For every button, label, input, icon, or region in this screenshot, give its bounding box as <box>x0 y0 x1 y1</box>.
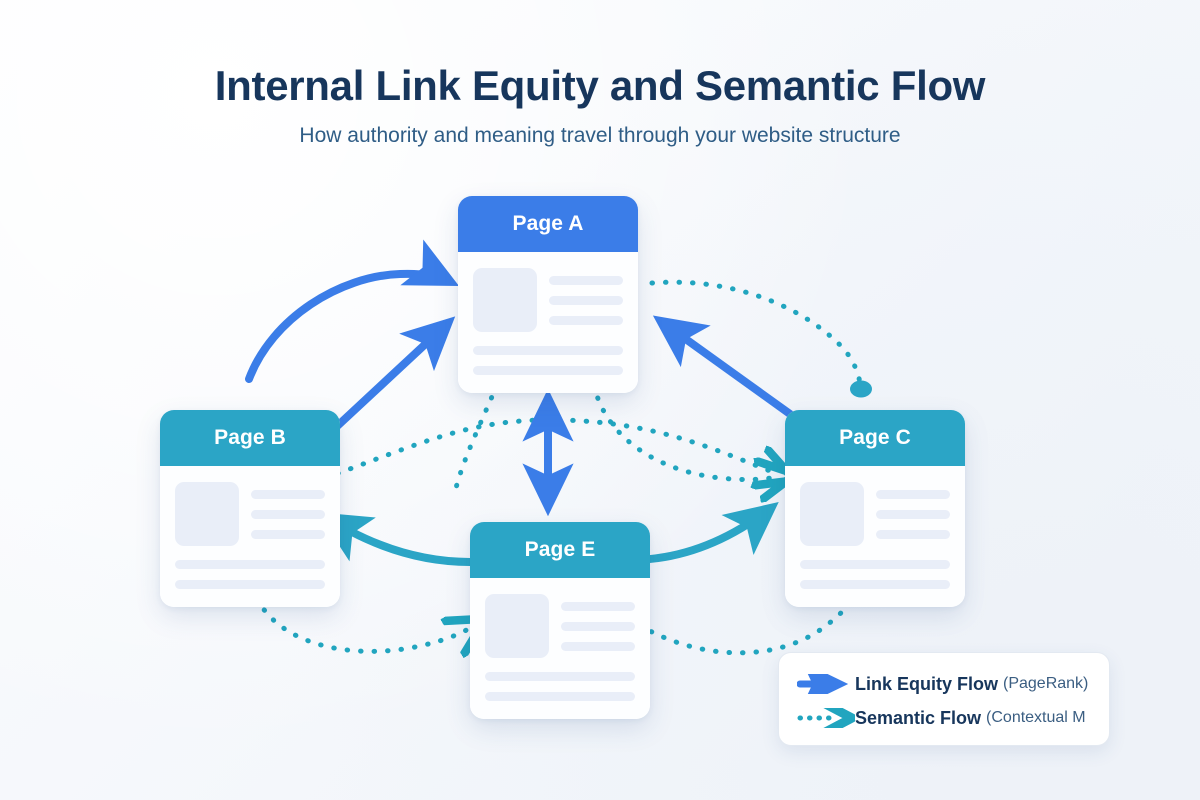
text-line-placeholder <box>251 530 325 539</box>
text-line-placeholder <box>175 560 325 569</box>
page-card-b-body <box>160 466 340 607</box>
text-line-placeholder <box>876 490 950 499</box>
edge-semantic-a-to-b <box>455 385 497 492</box>
page-card-e[interactable]: Page E <box>470 522 650 719</box>
thumbnail-placeholder <box>473 268 537 332</box>
page-card-a-header: Page A <box>458 196 638 252</box>
thumbnail-placeholder <box>175 482 239 546</box>
edge-equity-e-to-b <box>327 518 470 562</box>
page-card-e-body <box>470 578 650 719</box>
text-line-placeholder <box>800 560 950 569</box>
text-line-placeholder <box>549 276 623 285</box>
text-line-placeholder <box>251 490 325 499</box>
legend-item-semantic: Semantic Flow (Contextual M <box>797 701 1109 735</box>
page-card-a[interactable]: Page A <box>458 196 638 393</box>
text-line-placeholder <box>561 602 635 611</box>
text-line-placeholder <box>800 580 950 589</box>
text-line-placeholder <box>473 346 623 355</box>
page-card-c-header: Page C <box>785 410 965 466</box>
edge-endpoint-cap <box>850 381 872 398</box>
legend-note-link-equity: (PageRank) <box>1003 675 1088 693</box>
page-card-c-body <box>785 466 965 607</box>
diagram-canvas: Internal Link Equity and Semantic Flow H… <box>0 0 1200 800</box>
text-line-placeholder <box>876 510 950 519</box>
edge-equity-b-to-a-arc <box>249 274 449 379</box>
text-line-placeholder <box>561 622 635 631</box>
legend-item-link-equity: Link Equity Flow (PageRank) <box>797 667 1109 701</box>
text-line-placeholder <box>485 692 635 701</box>
legend-label-link-equity: Link Equity Flow <box>855 674 998 695</box>
legend-label-semantic: Semantic Flow <box>855 708 981 729</box>
edge-equity-b-to-a-straight <box>333 324 447 430</box>
solid-arrow-icon <box>797 674 855 694</box>
edge-equity-e-to-c <box>630 509 770 560</box>
page-card-c[interactable]: Page C <box>785 410 965 607</box>
page-card-b-header: Page B <box>160 410 340 466</box>
legend-note-semantic: (Contextual M <box>986 709 1086 727</box>
text-line-placeholder <box>549 296 623 305</box>
page-card-b-label: Page B <box>214 426 286 450</box>
edge-equity-c-to-a <box>662 322 790 414</box>
edge-semantic-a-to-c <box>594 385 778 480</box>
text-line-placeholder <box>876 530 950 539</box>
page-card-b[interactable]: Page B <box>160 410 340 607</box>
page-card-e-label: Page E <box>525 538 596 562</box>
legend-panel: Link Equity Flow (PageRank) Semantic Flo… <box>778 652 1110 746</box>
page-card-a-body <box>458 252 638 393</box>
thumbnail-placeholder <box>485 594 549 658</box>
text-line-placeholder <box>561 642 635 651</box>
page-card-c-label: Page C <box>839 426 911 450</box>
page-card-a-label: Page A <box>512 212 583 236</box>
text-line-placeholder <box>485 672 635 681</box>
text-line-placeholder <box>175 580 325 589</box>
text-line-placeholder <box>473 366 623 375</box>
thumbnail-placeholder <box>800 482 864 546</box>
text-line-placeholder <box>251 510 325 519</box>
text-line-placeholder <box>549 316 623 325</box>
page-card-e-header: Page E <box>470 522 650 578</box>
dotted-arrow-icon <box>797 708 855 728</box>
